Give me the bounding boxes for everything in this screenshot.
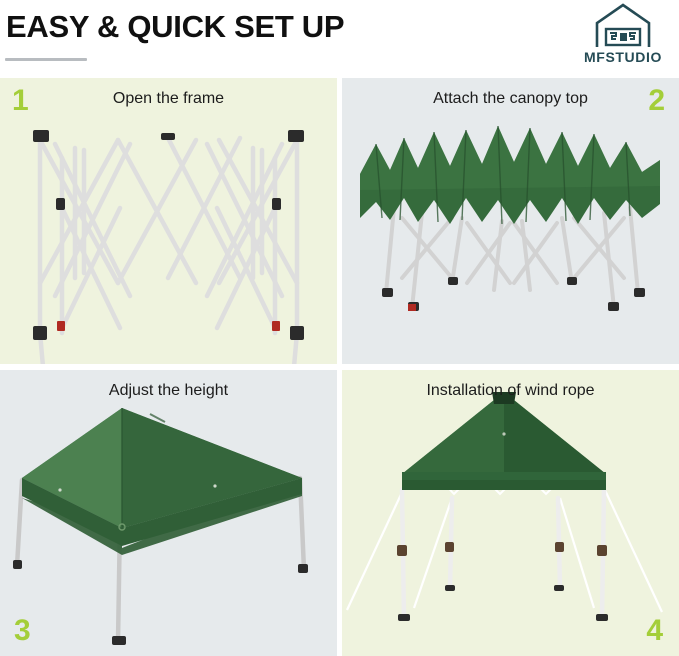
step-number-4: 4 [646,616,663,646]
step-number-3: 3 [14,616,31,646]
folding-frame-lattice-illustration [0,78,337,364]
step-title-1: Open the frame [0,88,337,110]
step-panel-3[interactable]: 3 Adjust the height [0,370,337,656]
step-title-3: Adjust the height [0,380,337,402]
canopy-low-height-illustration [0,370,337,656]
page-title: EASY & QUICK SET UP [6,6,344,48]
brand-name: MFSTUDIO [575,50,671,64]
step-panel-1[interactable]: 1 Open the frame [0,78,337,364]
brand-logo: MFSTUDIO [575,3,671,65]
house-outline-icon [592,3,654,49]
step-title-4: Installation of wind rope [342,380,679,402]
step-panel-2[interactable]: 2 Attach the canopy top [342,78,679,364]
canopy-full-height-with-ropes-illustration [342,370,679,656]
step-panel-4[interactable]: 4 Installation of wind rope [342,370,679,656]
steps-grid: 1 Open the frame [0,78,679,654]
title-underline-rule [5,58,87,61]
wind-rope-group [347,488,662,612]
canopy-draped-over-frame-illustration [342,78,679,364]
page-header: EASY & QUICK SET UP MFSTUDIO [0,0,679,78]
step-title-2: Attach the canopy top [342,88,679,110]
